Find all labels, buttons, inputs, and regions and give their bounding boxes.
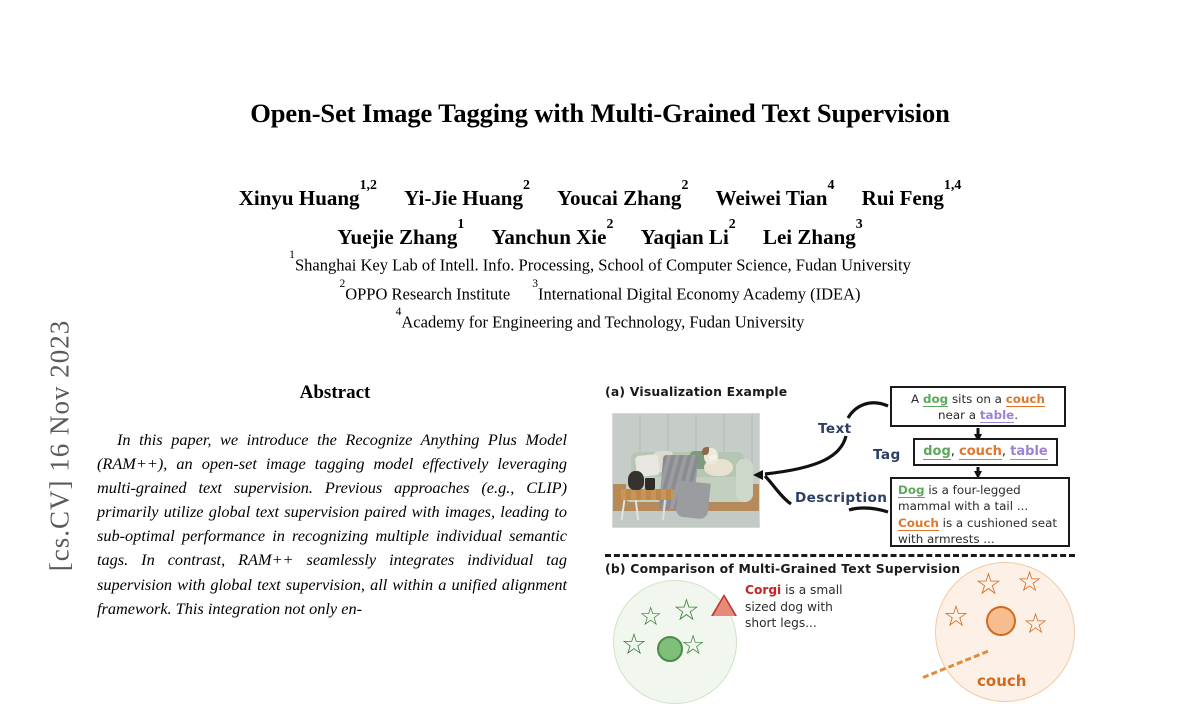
author-entry: Xinyu Huang1,2: [239, 186, 377, 210]
caption-word-couch: couch: [1006, 392, 1045, 407]
tag-dog: dog: [923, 444, 951, 460]
author-name: Yi-Jie Huang: [404, 186, 523, 210]
figure-label-tag: Tag: [873, 447, 901, 463]
author-name: Weiwei Tian: [716, 186, 828, 210]
abstract-body: In this paper, we introduce the Recogniz…: [97, 428, 567, 621]
star-icon: ☆: [673, 596, 700, 626]
arrowhead-to-image: [753, 470, 763, 480]
cluster-orange-center-dot: [986, 606, 1016, 636]
cluster-green-center-dot: [657, 636, 683, 662]
author-entry: Rui Feng1,4: [862, 186, 962, 210]
figure-label-description: Description: [795, 490, 887, 506]
affiliation-marker: 3: [532, 278, 538, 290]
author-affil-marker: 1: [457, 216, 464, 231]
triangle-icon: [713, 597, 735, 616]
author-affil-marker: 2: [523, 177, 530, 192]
star-icon: ☆: [943, 602, 969, 631]
author-entry: Yaqian Li2: [641, 225, 736, 249]
affiliation-text: OPPO Research Institute: [345, 284, 510, 303]
affiliation-line-1: 1Shanghai Key Lab of Intell. Info. Proce…: [100, 249, 1100, 278]
author-affil-marker: 1,4: [944, 177, 961, 192]
tag-table: table: [1010, 444, 1048, 460]
author-entry: Yanchun Xie2: [492, 225, 614, 249]
star-icon: ☆: [621, 630, 647, 659]
author-name: Xinyu Huang: [239, 186, 360, 210]
figure-panel: (a) Visualization Example: [605, 384, 1075, 648]
arrow-text-to-caption: [848, 403, 888, 418]
caption-text-part3: near a: [938, 408, 980, 422]
figure-divider: [605, 554, 1075, 557]
affiliation-line-3: 4Academy for Engineering and Technology,…: [100, 306, 1100, 335]
author-line-1: Xinyu Huang1,2 Yi-Jie Huang2 Youcai Zhan…: [100, 176, 1100, 215]
tag-couch: couch: [959, 444, 1002, 460]
author-entry: Yuejie Zhang1: [337, 225, 464, 249]
caption-text-part4: .: [1014, 408, 1018, 422]
caption-box: A dog sits on a couch near a table.: [890, 386, 1066, 427]
arrow-description-to-desc-box: [849, 508, 888, 512]
corgi-word: Corgi: [745, 583, 781, 597]
affiliation-marker: 2: [339, 278, 345, 290]
figure-label-text: Text: [818, 421, 852, 437]
author-affil-marker: 1,2: [360, 177, 377, 192]
tag-separator: ,: [1002, 444, 1010, 459]
author-entry: Yi-Jie Huang2: [404, 186, 530, 210]
corgi-description: Corgi is a small sized dog with short le…: [745, 582, 865, 632]
author-affil-marker: 2: [729, 216, 736, 231]
author-entry: Youcai Zhang2: [557, 186, 688, 210]
author-affil-marker: 3: [856, 216, 863, 231]
arrow-description-to-image: [765, 476, 791, 504]
affiliation-block: 1Shanghai Key Lab of Intell. Info. Proce…: [100, 249, 1100, 335]
desc-word-couch: Couch: [898, 516, 939, 531]
cluster-label-couch: couch: [977, 672, 1026, 690]
author-block: Xinyu Huang1,2 Yi-Jie Huang2 Youcai Zhan…: [100, 176, 1100, 254]
author-name: Yanchun Xie: [492, 225, 607, 249]
caption-text-part1: A: [911, 392, 923, 406]
affiliation-line-2: 2OPPO Research Institute3International D…: [100, 278, 1100, 307]
author-name: Yaqian Li: [641, 225, 729, 249]
affiliation-text: Shanghai Key Lab of Intell. Info. Proces…: [295, 256, 911, 275]
description-box: Dog is a four-legged mammal with a tail …: [890, 477, 1070, 547]
arxiv-stamp: [cs.CV] 16 Nov 2023: [45, 236, 76, 656]
desc-word-dog: Dog: [898, 483, 925, 498]
affiliation-marker: 4: [396, 306, 402, 318]
author-affil-marker: 2: [606, 216, 613, 231]
affiliation-text: International Digital Economy Academy (I…: [538, 284, 861, 303]
star-icon: ☆: [1017, 568, 1042, 596]
caption-word-table: table: [980, 408, 1014, 423]
author-entry: Weiwei Tian4: [716, 186, 835, 210]
caption-word-dog: dog: [923, 392, 948, 407]
author-name: Lei Zhang: [763, 225, 856, 249]
author-entry: Lei Zhang3: [763, 225, 863, 249]
affiliation-text: Academy for Engineering and Technology, …: [401, 313, 804, 332]
page-title: Open-Set Image Tagging with Multi-Graine…: [100, 98, 1100, 129]
star-icon: ☆: [1023, 610, 1048, 638]
arrow-text-to-image: [765, 436, 846, 474]
author-affil-marker: 4: [827, 177, 834, 192]
star-icon: ☆: [681, 632, 705, 659]
abstract-heading: Abstract: [95, 382, 575, 404]
tag-box: dog, couch, table: [913, 438, 1058, 466]
affiliation-marker: 1: [289, 249, 295, 261]
author-name: Yuejie Zhang: [337, 225, 457, 249]
figure-caption-b: (b) Comparison of Multi-Grained Text Sup…: [605, 561, 960, 576]
caption-text-part2: sits on a: [948, 392, 1006, 406]
tag-separator: ,: [951, 444, 959, 459]
star-icon: ☆: [975, 570, 1002, 600]
author-name: Rui Feng: [862, 186, 944, 210]
author-name: Youcai Zhang: [557, 186, 681, 210]
author-affil-marker: 2: [681, 177, 688, 192]
